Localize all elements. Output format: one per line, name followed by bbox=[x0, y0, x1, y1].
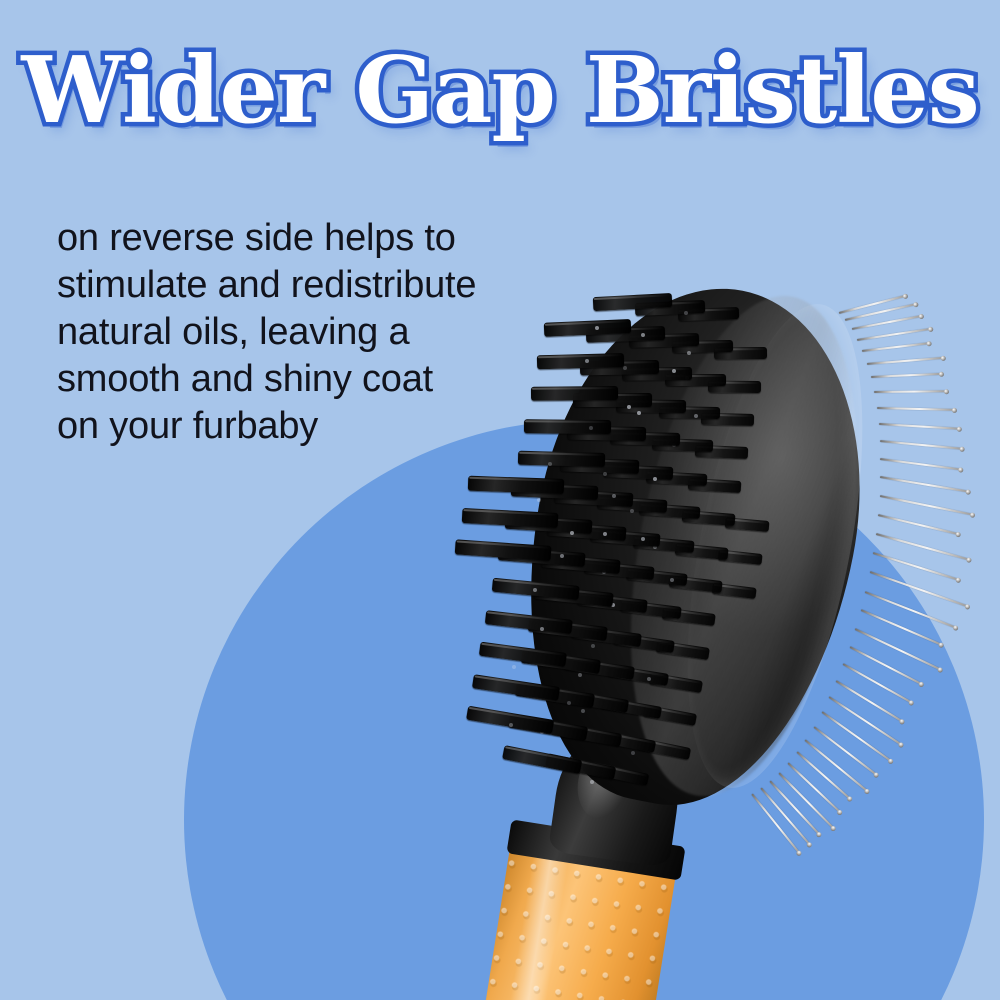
bristle-highlight bbox=[623, 366, 627, 370]
body-paragraph: on reverse side helps to stimulate and r… bbox=[57, 215, 577, 450]
body-line-3: natural oils, leaving a bbox=[57, 309, 577, 356]
brush-pin bbox=[880, 476, 969, 493]
brush-pin bbox=[878, 514, 959, 535]
bristle-highlight bbox=[585, 359, 589, 363]
body-line-2: stimulate and redistribute bbox=[57, 262, 577, 309]
brush-bristle-tuft bbox=[665, 374, 726, 386]
body-line-1: on reverse side helps to bbox=[57, 215, 577, 262]
brush-pin bbox=[862, 342, 930, 352]
body-line-4: smooth and shiny coat bbox=[57, 356, 577, 403]
bristle-highlight bbox=[595, 326, 599, 330]
brush-bristle-tuft bbox=[586, 326, 665, 342]
bristle-highlight bbox=[694, 414, 698, 418]
promo-image-canvas: Wider Gap Bristles on reverse side helps… bbox=[0, 0, 1000, 1000]
bristle-highlight bbox=[637, 411, 641, 415]
background-circle-decoration bbox=[184, 420, 984, 1000]
brush-bristle-tuft bbox=[573, 393, 652, 407]
brush-pin bbox=[880, 458, 962, 471]
brush-bristle-tuft bbox=[592, 293, 671, 311]
brush-bristle-tuft bbox=[616, 399, 686, 413]
brush-pin bbox=[876, 533, 970, 561]
brush-bristle-tuft bbox=[714, 347, 767, 359]
bristle-highlight bbox=[672, 369, 676, 373]
brush-bristle-tuft bbox=[671, 340, 733, 353]
brush-bristle-tuft bbox=[622, 367, 692, 381]
brush-pin bbox=[879, 495, 973, 516]
brush-pin bbox=[851, 315, 921, 330]
brush-bristle-tuft bbox=[629, 333, 699, 348]
body-line-5: on your furbaby bbox=[57, 403, 577, 450]
brush-pin bbox=[879, 423, 960, 430]
brush-pin bbox=[867, 357, 944, 365]
bristle-highlight bbox=[684, 311, 688, 315]
brush-pin bbox=[857, 327, 931, 340]
bristle-highlight bbox=[687, 351, 691, 355]
brush-bristle-tuft bbox=[658, 406, 720, 419]
headline-container: Wider Gap Bristles bbox=[0, 38, 1000, 142]
brush-pin bbox=[871, 373, 942, 378]
brush-bristle-tuft bbox=[678, 307, 740, 321]
brush-bristle-tuft bbox=[708, 380, 761, 392]
bristle-highlight bbox=[685, 376, 689, 380]
brush-pin bbox=[880, 440, 963, 450]
brush-bristle-tuft bbox=[701, 413, 754, 426]
brush-pin bbox=[877, 407, 955, 411]
brush-pin bbox=[845, 303, 917, 321]
page-title: Wider Gap Bristles bbox=[21, 38, 978, 142]
brush-bristle-tuft bbox=[635, 300, 705, 316]
brush-pin bbox=[874, 390, 947, 393]
brush-pin bbox=[838, 294, 905, 313]
bristle-highlight bbox=[627, 405, 631, 409]
brush-bristle-tuft bbox=[580, 360, 659, 375]
bristle-highlight bbox=[641, 333, 645, 337]
